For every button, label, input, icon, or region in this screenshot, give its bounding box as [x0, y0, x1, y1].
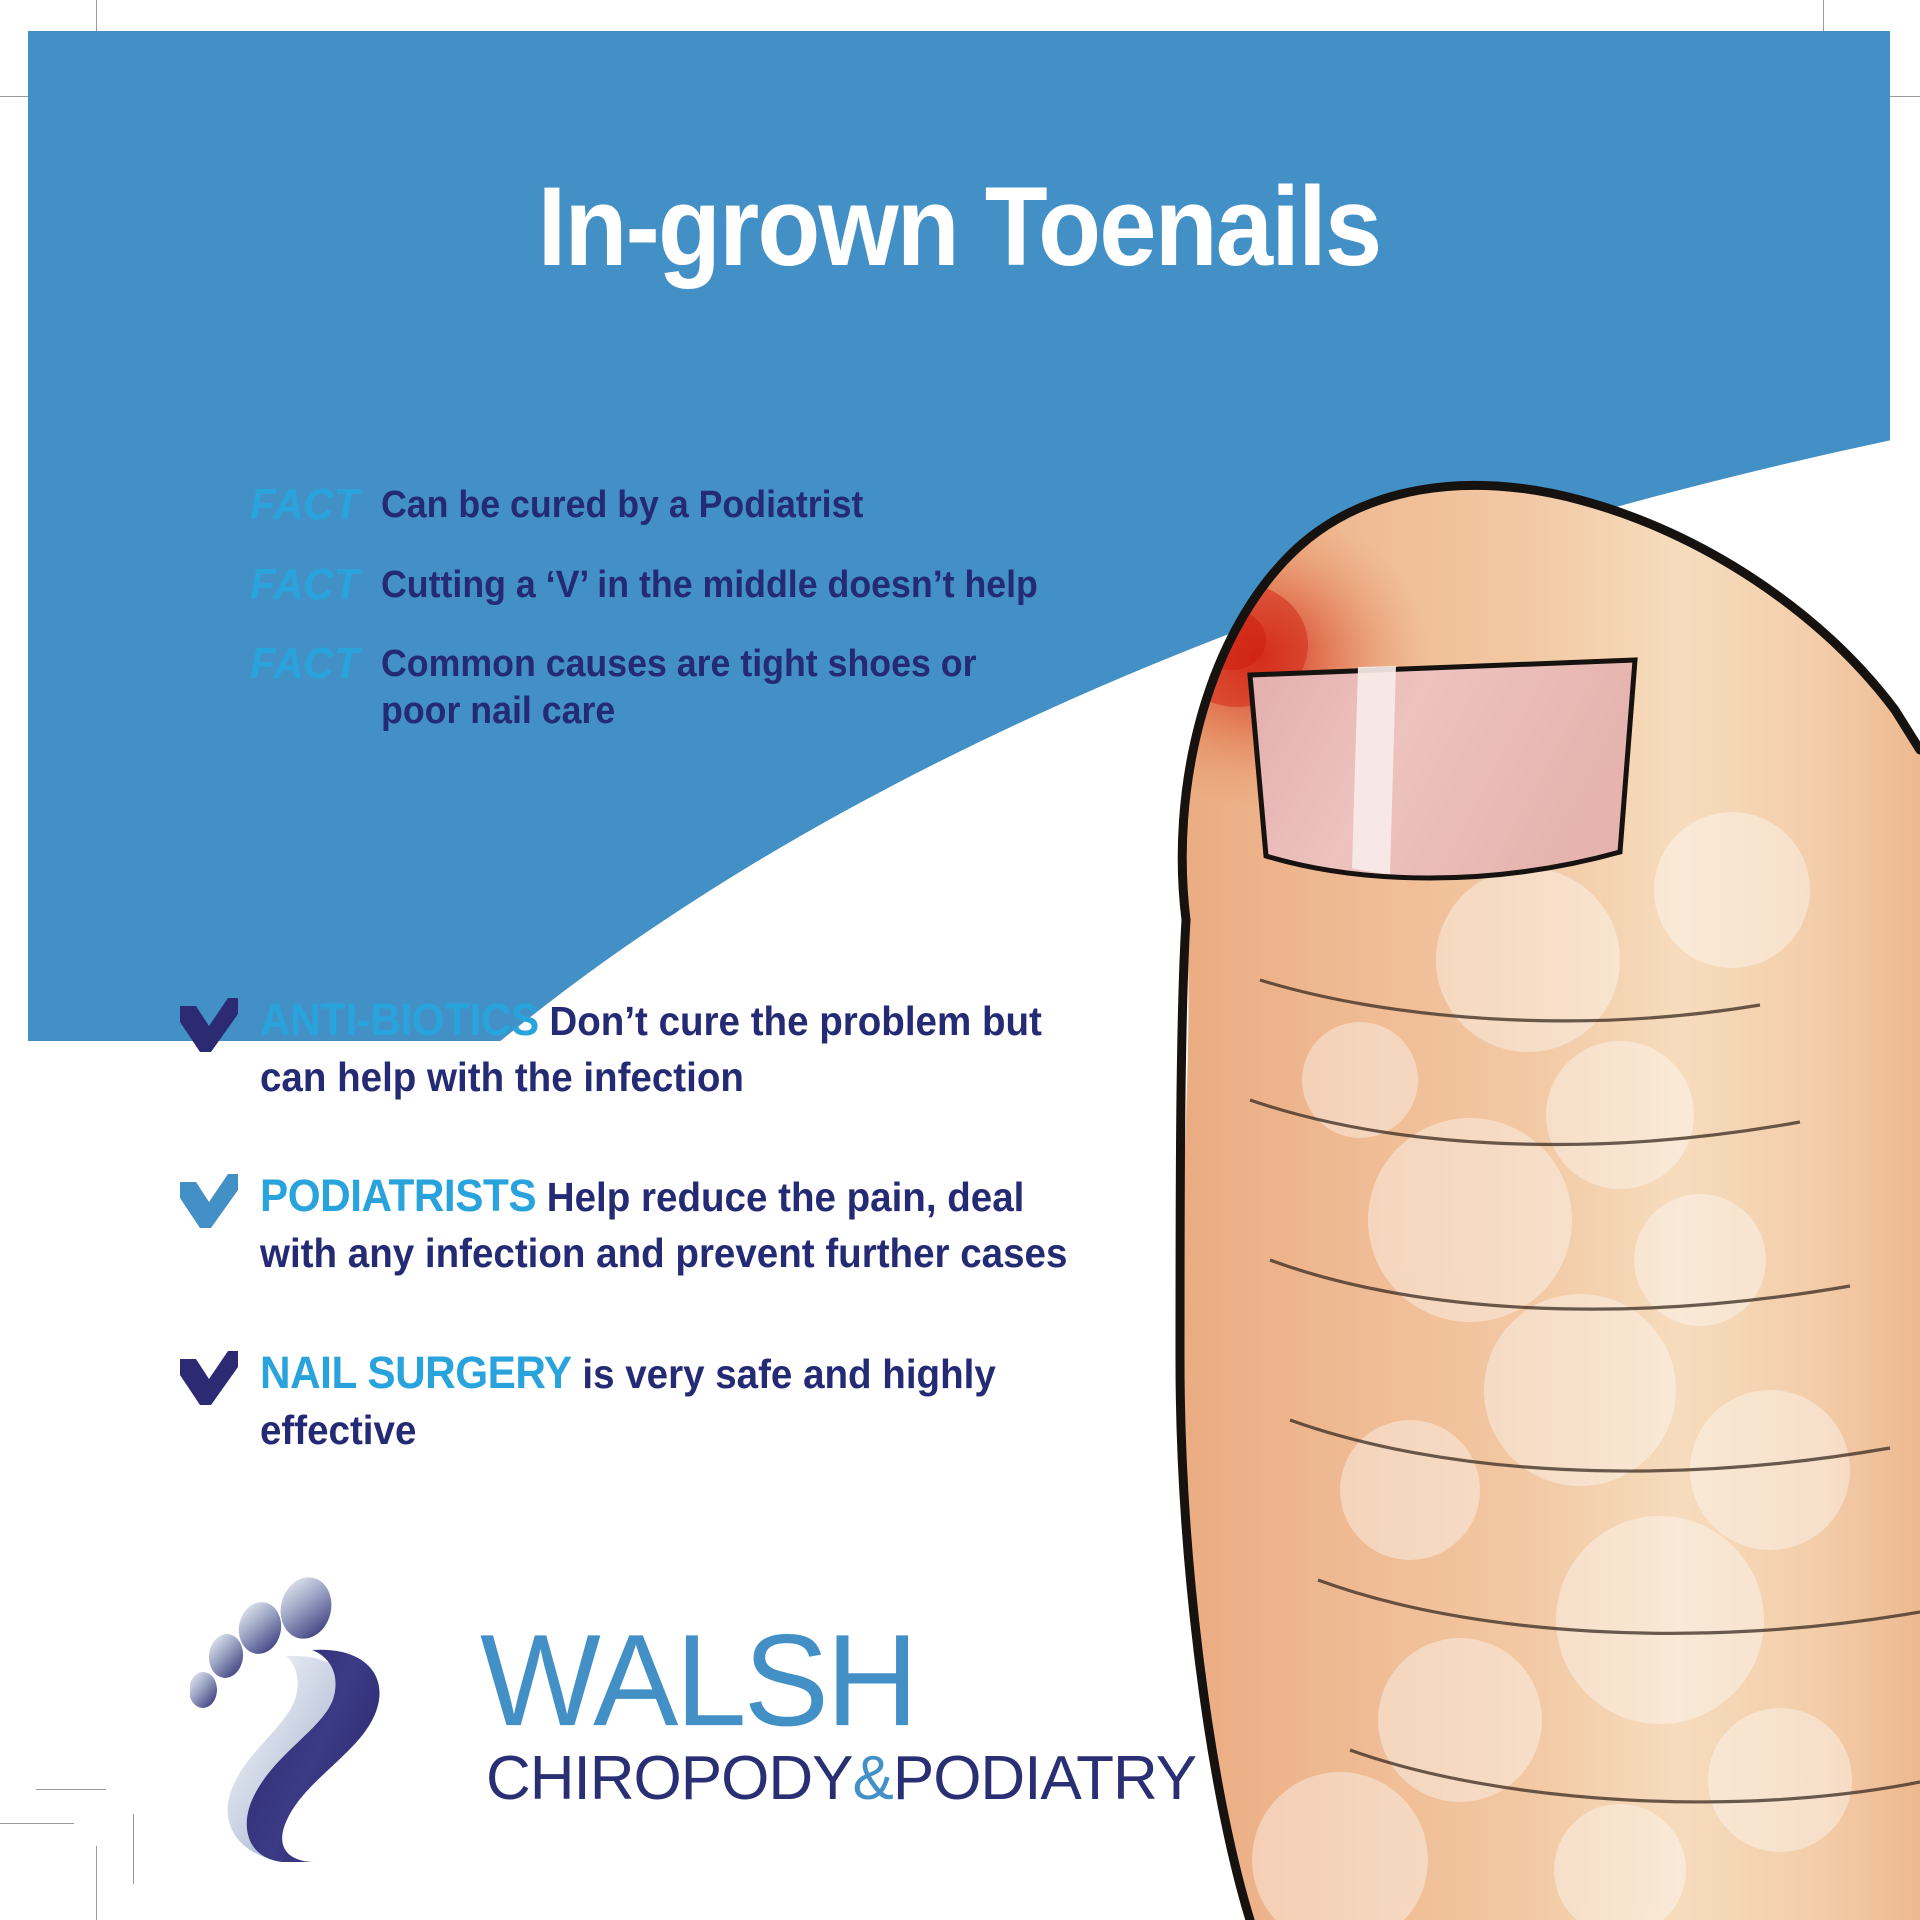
fact-text: Cutting a ‘V’ in the middle doesn’t help: [381, 562, 1038, 608]
logo-tagline-left: CHIROPODY: [486, 1744, 852, 1813]
checklist-keyword: ANTI-BIOTICS: [260, 994, 539, 1045]
crop-mark-bottom-left-h: [0, 1823, 74, 1824]
page-title: In-grown Toenails: [102, 171, 1815, 283]
crop-mark-bottom-left-h2: [36, 1789, 106, 1790]
checklist-item: PODIATRISTS Help reduce the pain, deal w…: [178, 1166, 1158, 1280]
logo-tagline-right: PODIATRY: [893, 1744, 1196, 1813]
logo-wordmark: WALSH: [480, 1616, 915, 1747]
facts-list: FACT Can be cured by a Podiatrist FACT C…: [250, 482, 1150, 767]
checklist-keyword: PODIATRISTS: [260, 1170, 536, 1221]
crop-mark-bottom-left-v: [96, 1846, 97, 1920]
crop-mark-bottom-left-v2: [133, 1814, 134, 1884]
checklist-item: NAIL SURGERY is very safe and highly eff…: [178, 1343, 1158, 1457]
walsh-logo[interactable]: WALSH CHIROPODY&PODIATRY: [190, 1572, 990, 1872]
fact-keyword: FACT: [250, 482, 359, 529]
checklist: ANTI-BIOTICS Don’t cure the problem but …: [178, 990, 1158, 1519]
fact-item: FACT Common causes are tight shoes or po…: [250, 641, 1150, 734]
fact-keyword: FACT: [250, 562, 359, 609]
check-icon: [178, 1172, 240, 1234]
check-icon: [178, 996, 240, 1058]
logo-tagline: CHIROPODY&PODIATRY: [486, 1748, 1196, 1810]
checklist-keyword: NAIL SURGERY: [260, 1347, 572, 1398]
fact-item: FACT Cutting a ‘V’ in the middle doesn’t…: [250, 562, 1150, 609]
logo-tagline-amp: &: [852, 1744, 892, 1813]
checklist-text: NAIL SURGERY is very safe and highly eff…: [260, 1343, 1104, 1457]
ingrown-toenail-illustration: [1060, 460, 1920, 1920]
checklist-text: ANTI-BIOTICS Don’t cure the problem but …: [260, 990, 1104, 1104]
infographic-poster: In-grown Toenails: [0, 0, 1920, 1920]
fact-keyword: FACT: [250, 641, 359, 688]
fact-text: Common causes are tight shoes or poor na…: [381, 641, 1001, 734]
checklist-item: ANTI-BIOTICS Don’t cure the problem but …: [178, 990, 1158, 1104]
fact-text: Can be cured by a Podiatrist: [381, 482, 863, 528]
check-icon: [178, 1349, 240, 1411]
checklist-text: PODIATRISTS Help reduce the pain, deal w…: [260, 1166, 1104, 1280]
fact-item: FACT Can be cured by a Podiatrist: [250, 482, 1150, 529]
